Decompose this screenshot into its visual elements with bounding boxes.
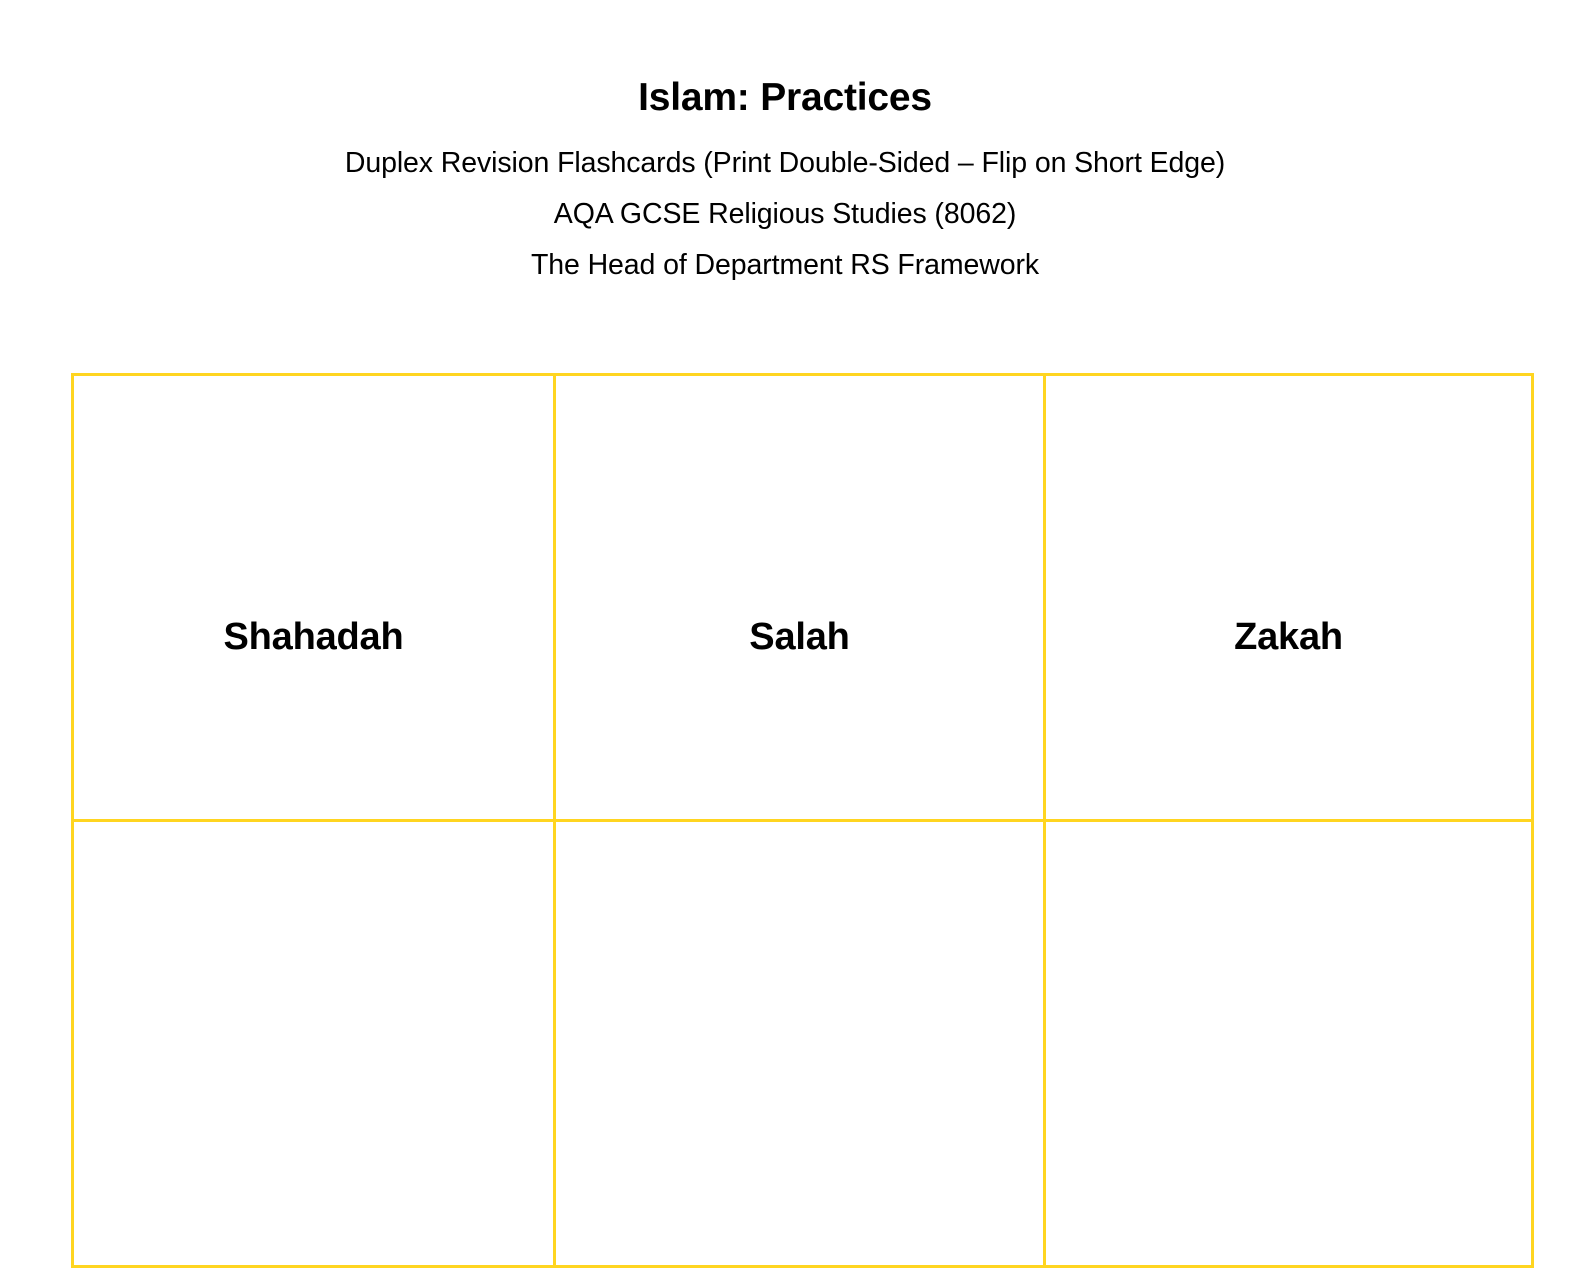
flashcard-cell-shahadah[interactable]: Shahadah bbox=[73, 375, 555, 821]
flashcard-cell-empty[interactable] bbox=[1045, 821, 1533, 1267]
flashcard-cell-empty[interactable] bbox=[555, 821, 1045, 1267]
subtitle-line-2: AQA GCSE Religious Studies (8062) bbox=[0, 189, 1570, 240]
flashcard-cell-empty[interactable] bbox=[73, 821, 555, 1267]
flashcard-row bbox=[73, 821, 1533, 1267]
flashcard-term: Salah bbox=[556, 617, 1043, 659]
flashcard-term: Shahadah bbox=[74, 617, 553, 659]
flashcard-row: Shahadah Salah Zakah bbox=[73, 375, 1533, 821]
subtitle-line-3: The Head of Department RS Framework bbox=[0, 240, 1570, 291]
subtitle-line-1: Duplex Revision Flashcards (Print Double… bbox=[0, 138, 1570, 189]
flashcard-grid: Shahadah Salah Zakah bbox=[71, 373, 1534, 1268]
flashcard-cell-salah[interactable]: Salah bbox=[555, 375, 1045, 821]
flashcard-term: Zakah bbox=[1046, 617, 1531, 659]
subtitle-block: Duplex Revision Flashcards (Print Double… bbox=[0, 138, 1570, 291]
page-title: Islam: Practices bbox=[0, 0, 1570, 121]
flashcard-cell-zakah[interactable]: Zakah bbox=[1045, 375, 1533, 821]
document-header: Islam: Practices Duplex Revision Flashca… bbox=[0, 0, 1570, 291]
flashcard-page: Islam: Practices Duplex Revision Flashca… bbox=[0, 0, 1570, 850]
